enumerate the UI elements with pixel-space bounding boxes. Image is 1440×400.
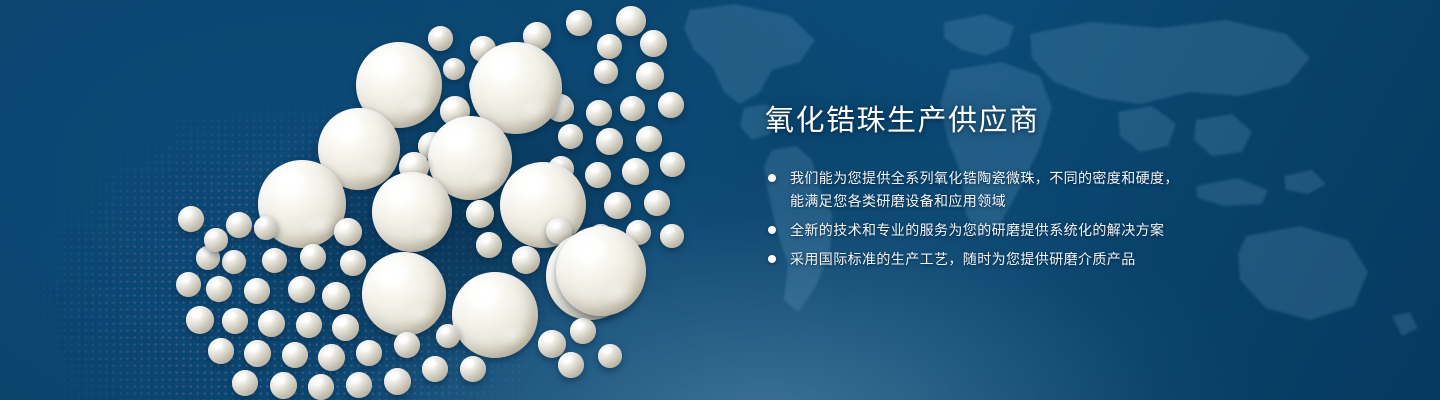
bead: [422, 356, 448, 382]
list-item-text: 能满足您各类研磨设备和应用领域: [790, 190, 1385, 212]
bead: [586, 100, 612, 126]
bead: [594, 60, 618, 84]
bullet-dot-icon: [768, 255, 776, 263]
bead: [566, 10, 592, 36]
bead: [476, 232, 502, 258]
bead: [428, 26, 453, 51]
bead: [644, 190, 670, 216]
zirconia-beads-cluster: [0, 0, 780, 400]
bead: [558, 124, 583, 149]
bead: [604, 192, 631, 219]
list-item-text: 全新的技术和专业的服务为您的研磨提供系统化的解决方案: [790, 219, 1385, 241]
feature-list: 我们能为您提供全系列氧化锆陶瓷微珠，不同的密度和硬度， 能满足您各类研磨设备和应…: [765, 167, 1385, 270]
bead: [585, 162, 611, 188]
bead: [226, 212, 252, 238]
page-title: 氧化锆珠生产供应商: [765, 104, 1385, 138]
bead: [636, 62, 664, 90]
banner-copy: 氧化锆珠生产供应商 我们能为您提供全系列氧化锆陶瓷微珠，不同的密度和硬度， 能满…: [765, 104, 1385, 270]
bead: [244, 340, 271, 367]
bead: [598, 344, 622, 368]
bead: [436, 324, 460, 348]
bead: [186, 306, 214, 334]
bead: [620, 96, 645, 121]
bead: [258, 310, 285, 337]
bead: [640, 30, 667, 57]
hero-banner: 氧化锆珠生产供应商 我们能为您提供全系列氧化锆陶瓷微珠，不同的密度和硬度， 能满…: [0, 0, 1440, 400]
bead: [222, 250, 246, 274]
bullet-dot-icon: [768, 226, 776, 234]
bead: [362, 252, 446, 336]
bead: [244, 278, 270, 304]
bead: [452, 272, 538, 358]
bead: [558, 352, 584, 378]
bead: [176, 272, 201, 297]
bead: [636, 126, 662, 152]
list-item: 采用国际标准的生产工艺，随时为您提供研磨介质产品: [765, 248, 1385, 270]
list-item-text: 采用国际标准的生产工艺，随时为您提供研磨介质产品: [790, 248, 1385, 270]
bead: [512, 246, 540, 274]
bead: [466, 200, 494, 228]
bead: [204, 228, 228, 252]
bead: [334, 218, 362, 246]
bead: [596, 128, 623, 155]
bead: [660, 152, 685, 177]
bead: [208, 338, 234, 364]
list-item-text: 我们能为您提供全系列氧化锆陶瓷微珠，不同的密度和硬度，: [790, 167, 1385, 189]
bead: [658, 92, 684, 118]
bead: [332, 314, 359, 341]
bead: [300, 244, 326, 270]
bead: [556, 226, 646, 316]
bead: [460, 356, 486, 382]
bead: [570, 318, 596, 344]
bead: [622, 158, 649, 185]
bead: [384, 368, 411, 395]
bullet-dot-icon: [768, 174, 776, 182]
bead: [178, 206, 204, 232]
list-item: 我们能为您提供全系列氧化锆陶瓷微珠，不同的密度和硬度， 能满足您各类研磨设备和应…: [765, 167, 1385, 212]
bead: [616, 6, 646, 36]
bead: [288, 276, 315, 303]
bead: [254, 216, 278, 240]
bead: [356, 340, 382, 366]
bead: [660, 224, 684, 248]
list-item: 全新的技术和专业的服务为您的研磨提供系统化的解决方案: [765, 219, 1385, 241]
bead: [372, 172, 452, 252]
bead: [308, 374, 334, 400]
bead: [262, 248, 287, 273]
bead: [597, 34, 622, 59]
bead: [538, 330, 566, 358]
bead: [346, 372, 372, 398]
bead: [206, 276, 232, 302]
bead: [318, 344, 345, 371]
bead: [296, 312, 322, 338]
bead: [394, 332, 420, 358]
bead: [270, 372, 297, 399]
bead: [232, 370, 258, 396]
bead: [340, 250, 366, 276]
bead: [222, 308, 248, 334]
bead: [322, 282, 350, 310]
bead: [443, 58, 465, 80]
bead: [282, 342, 308, 368]
